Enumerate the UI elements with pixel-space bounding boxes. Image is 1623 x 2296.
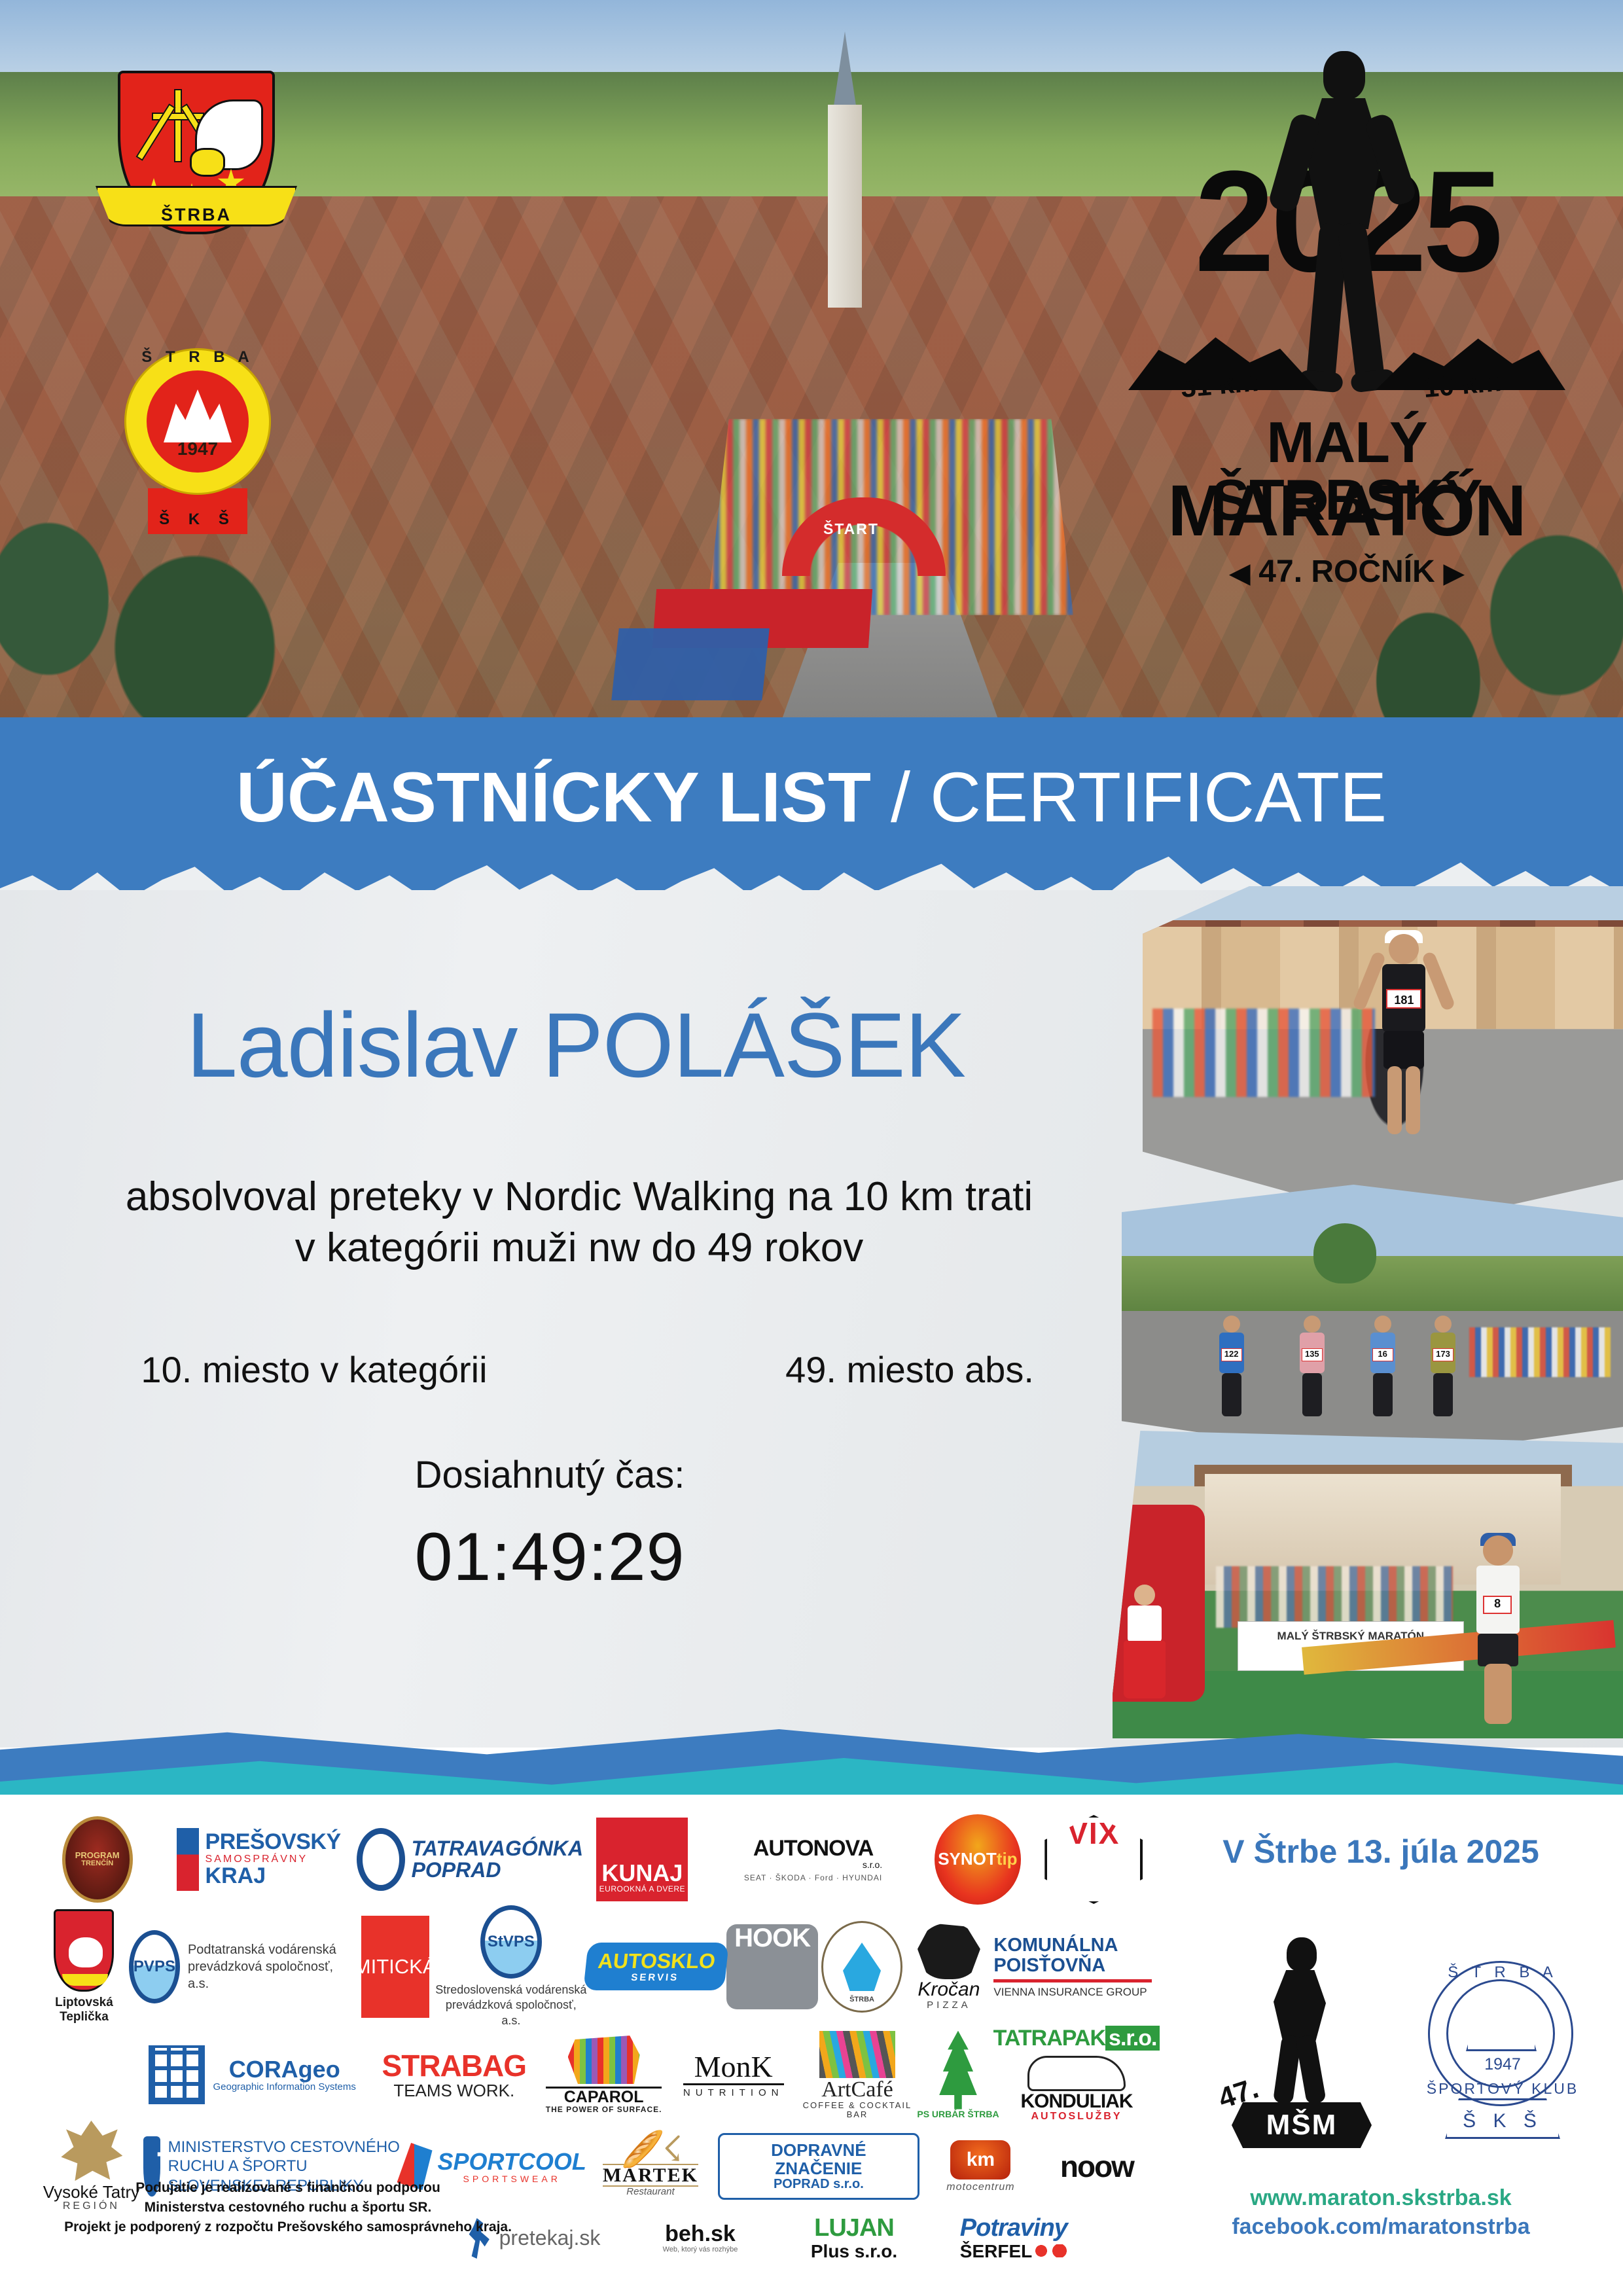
tatrapak-sub: s.r.o. <box>1105 2026 1160 2051</box>
sponsor-liptovska-teplicka: Liptovská Teplička <box>39 1909 129 2024</box>
arrow-right-icon: ▶ <box>1444 559 1464 588</box>
psk-line3: KRAJ <box>205 1865 341 1888</box>
distance-31km: 31 km <box>1179 366 1260 404</box>
time-value: 01:49:29 <box>0 1518 1099 1596</box>
konduliak-name: KONDULIAK <box>1021 2091 1133 2112</box>
sponsor-artcafe: ArtCafé COFFEE & COCKTAIL BAR <box>800 2031 915 2119</box>
elephant-icon <box>568 2036 640 2084</box>
certificate-title-band: ÚČASTNÍCKY LIST / CERTIFICATE <box>0 717 1623 902</box>
lujan-name: LUJAN <box>811 2215 897 2242</box>
stvps-name: StVPS <box>488 1933 535 1950</box>
strabag-name: STRABAG <box>382 2050 526 2081</box>
strba-municipal-crest: ŠTRBA <box>118 71 275 234</box>
event-edition-label: 47. ROČNÍK <box>1258 554 1435 589</box>
issue-date: V Štrbe 13. júla 2025 <box>1171 1833 1590 1871</box>
behsk-sub: Web, ktorý vás rozhýbe <box>663 2246 738 2254</box>
kp-sub: VIENNA INSURANCE GROUP <box>993 1986 1152 1998</box>
sponsor-monk-nutrition: MonK NUTRITION <box>667 2051 799 2098</box>
pvps-name: PVPS <box>134 1958 175 1975</box>
sponsor-program-trencin: PROGRAM TRENČÍN <box>39 1816 155 1903</box>
monk-name: MonK <box>683 2051 784 2085</box>
vix-name: VIX <box>1044 1815 1143 1904</box>
sponsor-behsk: beh.sk Web, ktorý vás rozhýbe <box>622 2223 779 2253</box>
msm-runner-icon <box>1258 1937 1343 2101</box>
photo-runners-on-course: 122 135 16 173 <box>1122 1185 1623 1460</box>
start-label: ŠTART <box>823 520 879 538</box>
funding-disclaimer: Podujatie je realizované s finančnou pod… <box>39 2178 537 2236</box>
title-sk: ÚČASTNÍCKY LIST <box>236 757 871 836</box>
photo3-bib-number: 8 <box>1483 1596 1512 1614</box>
stvps-water-icon: StVPS <box>480 1905 542 1979</box>
photo-finish-female-runner: 181 <box>1143 886 1623 1227</box>
tatrapak-name: TATRAPAK <box>993 2026 1105 2051</box>
photo2-bib-3: 16 <box>1372 1348 1393 1361</box>
sks-top-label: Š T R B A <box>110 348 285 367</box>
potraviny-sub: ŠERFEL <box>960 2241 1032 2261</box>
behsk-name: beh.sk <box>663 2223 738 2246</box>
sponsor-pvps: PVPS Podtatranská vodárenská prevádzková… <box>129 1930 355 2003</box>
miticka-name: MITICKÁ <box>361 1916 429 2018</box>
caparol-sub: THE POWER OF SURFACE. <box>546 2106 662 2114</box>
church-tower <box>821 31 868 306</box>
km-name: km <box>950 2140 1010 2179</box>
corageo-name: CORAgeo <box>213 2057 355 2082</box>
pd-strba-icon: ŠTRBA <box>821 1921 902 2013</box>
kunaj-name: KUNAJ <box>596 1861 688 1886</box>
stamp-abbr: Š K Š <box>1415 2110 1590 2132</box>
description-line2: v kategórii muži nw do 49 rokov <box>0 1223 1158 1274</box>
sks-club-logo: Š T R B A 1947 Š K Š <box>110 334 285 530</box>
stvps-sub: Stredoslovenská vodárenská prevádzková s… <box>435 1982 588 2028</box>
car-icon <box>1027 2056 1126 2091</box>
tatravagonka-line2: POPRAD <box>412 1859 583 1881</box>
sponsor-vix: VIX <box>1036 1815 1152 1904</box>
facebook-url[interactable]: facebook.com/maratonstrba <box>1165 2212 1597 2241</box>
artcafe-bars-icon <box>819 2031 895 2078</box>
sks-year-label: 1947 <box>110 439 285 459</box>
hook-name: HOOK <box>726 1924 818 2009</box>
sponsor-stvps: StVPS Stredoslovenská vodárenská prevádz… <box>435 1905 588 2028</box>
lujan-sub: Plus s.r.o. <box>811 2242 897 2261</box>
place-in-category: 10. miesto v kategórii <box>105 1348 524 1391</box>
liptovska-crest-icon <box>54 1909 114 1992</box>
turkey-icon <box>918 1923 980 1979</box>
sponsor-lujan: LUJAN Plus s.r.o. <box>779 2215 929 2261</box>
sponsor-krocan-pizza: Kročan PIZZA <box>904 1923 993 2010</box>
autosklo-sub: SERVIS <box>596 1973 715 1983</box>
place-absolute: 49. miesto abs. <box>707 1348 1113 1391</box>
tree-icon <box>935 2031 982 2109</box>
krocan-name: Kročan <box>918 1979 980 2000</box>
corageo-sub: Geographic Information Systems <box>213 2082 355 2092</box>
sponsor-synot-tip: SYNOTtip <box>919 1814 1035 1905</box>
sponsor-logos: PROGRAM TRENČÍN PREŠOVSKÝ SAMOSPRÁVNY KR… <box>39 1806 1152 2225</box>
sponsor-row-3: CORAgeo Geographic Information Systems S… <box>39 2022 1152 2127</box>
sponsor-km-motocentrum: km motocentrum <box>919 2140 1042 2193</box>
arrow-left-icon: ◀ <box>1230 559 1250 588</box>
artcafe-name: ArtCafé <box>800 2078 915 2102</box>
club-stamp: Š T R B A 1947 ŠPORTOVÝ KLUB Š K Š <box>1415 1927 1590 2143</box>
distance-10km: 10 km <box>1422 366 1503 404</box>
time-label: Dosiahnutý čas: <box>0 1453 1099 1497</box>
kunaj-sub: EUROOKNÁ A DVERE <box>596 1885 688 1893</box>
martek-name: MARTEK <box>603 2164 698 2187</box>
sks-bottom-label: Š K Š <box>110 511 285 529</box>
autonova-brands: SEAT · ŠKODA · Ford · HYUNDAI <box>744 1874 882 1882</box>
autonova-sub: s.r.o. <box>744 1860 882 1870</box>
sponsor-corageo: CORAgeo Geographic Information Systems <box>137 2045 368 2104</box>
sponsor-kunaj: KUNAJ EUROOKNÁ A DVERE <box>578 1818 707 1901</box>
sponsor-tatrapak-konduliak: TATRAPAKs.r.o. KONDULIAK AUTOSLUŽBY <box>1001 2027 1152 2123</box>
potraviny-name: Potraviny <box>960 2215 1069 2242</box>
disclaimer-line1: Podujatie je realizované s finančnou pod… <box>39 2178 537 2198</box>
pvps-water-icon: PVPS <box>129 1930 180 2003</box>
caparol-name: CAPAROL <box>546 2087 662 2106</box>
sponsor-miticka: MITICKÁ <box>355 1916 435 2018</box>
msm-abbr: MŠM <box>1232 2102 1372 2148</box>
certificate-description: absolvoval preteky v Nordic Walking na 1… <box>0 1172 1158 1274</box>
photo1-bib-number: 181 <box>1387 994 1420 1007</box>
sponsor-row-1: PROGRAM TRENČÍN PREŠOVSKÝ SAMOSPRÁVNY KR… <box>39 1810 1152 1909</box>
sponsor-tatravagonka: TATRAVAGÓNKA POPRAD <box>362 1828 578 1891</box>
pd-strba-sub: ŠTRBA <box>823 1996 901 2004</box>
synot-name: SYNOT <box>938 1850 997 1868</box>
participant-name: Ladislav POLÁŠEK <box>0 992 1152 1098</box>
sponsor-noow: noow <box>1042 2151 1152 2182</box>
autosklo-part1: AUTOSKLO <box>597 1949 717 1973</box>
photo2-bib-2: 135 <box>1302 1348 1323 1361</box>
stamp-year: 1947 <box>1415 2055 1590 2074</box>
photo-finish-line-winner: MALÝ ŠTRBSKÝ MARATÓN 8 <box>1113 1431 1623 1738</box>
km-sub: motocentrum <box>946 2182 1014 2193</box>
corageo-grid-icon <box>149 2045 205 2104</box>
kp-name: KOMUNÁLNA POISŤOVŇA <box>993 1935 1152 1975</box>
sponsor-martek: 🥖☇ MARTEK Restaurant <box>583 2136 718 2197</box>
msm-badge: 47. MŠM <box>1215 1937 1385 2153</box>
sponsor-autosklo: AUTOSKLO SERVIS <box>588 1943 725 1990</box>
sportcool-name: SPORTCOOL <box>438 2149 586 2174</box>
event-logo: 2025 31 km 10 km MALÝ ŠTRBSKÝ MARATÓN ◀ … <box>1124 31 1569 601</box>
sponsor-presovsky-kraj: PREŠOVSKÝ SAMOSPRÁVNY KRAJ <box>155 1828 361 1891</box>
certificate-title: ÚČASTNÍCKY LIST / CERTIFICATE <box>0 762 1623 833</box>
sponsor-strabag: STRABAG TEAMS WORK. <box>368 2050 541 2100</box>
photo2-bib-1: 122 <box>1221 1348 1242 1361</box>
stamp-circle-label: ŠPORTOVÝ KLUB <box>1415 2080 1590 2098</box>
event-edition: ◀ 47. ROČNÍK ▶ <box>1124 554 1569 590</box>
runner-silhouette-icon <box>1279 51 1410 418</box>
noow-name: noow <box>1060 2151 1133 2182</box>
cutlery-icon: 🥖☇ <box>603 2136 698 2164</box>
krocan-sub: PIZZA <box>918 2000 980 2011</box>
sponsor-autonova: AUTONOVA s.r.o. SEAT · ŠKODA · Ford · HY… <box>707 1837 919 1882</box>
dz-name: DOPRAVNÉ ZNAČENIE <box>730 2142 907 2178</box>
monk-sub: NUTRITION <box>683 2088 784 2098</box>
stamp-top-label: Š T R B A <box>1415 1964 1590 1982</box>
liptovska-line1: Liptovská <box>55 1996 113 2010</box>
tatravagonka-oval-icon <box>357 1828 405 1891</box>
title-separator: / <box>891 757 910 836</box>
chamois-icon <box>60 2121 122 2183</box>
crest-ribbon-label: ŠTRBA <box>98 205 295 225</box>
crest-ribbon: ŠTRBA <box>96 186 297 226</box>
website-url[interactable]: www.maraton.skstrba.sk <box>1165 2183 1597 2212</box>
strabag-sub: TEAMS WORK. <box>382 2082 526 2100</box>
psk-line1: PREŠOVSKÝ <box>205 1831 341 1854</box>
sponsor-pd-strba: ŠTRBA <box>820 1921 904 2013</box>
sponsor-potraviny-serfel: Potraviny ŠERFEL <box>929 2215 1099 2261</box>
sponsor-caparol: CAPAROL THE POWER OF SURFACE. <box>541 2036 668 2114</box>
sponsor-ps-urbar-strba: PS URBÁR ŠTRBA <box>915 2031 1001 2119</box>
sponsor-komunalna-poistovna: KOMUNÁLNA POISŤOVŇA VIENNA INSURANCE GRO… <box>993 1935 1152 1998</box>
blue-tent <box>611 628 770 700</box>
title-en: CERTIFICATE <box>930 757 1387 836</box>
sponsor-program-name: PROGRAM <box>65 1851 130 1860</box>
tatravagonka-line1: TATRAVAGÓNKA <box>412 1838 583 1859</box>
event-name-line2: MARATÓN <box>1124 475 1569 547</box>
photo-collage: 181 122 135 16 173 MALÝ ŠTRBSKÝ MARATÓN … <box>1113 877 1623 1748</box>
sponsor-row-2: Liptovská Teplička PVPS Podtatranská vod… <box>39 1911 1152 2022</box>
martek-sub: Restaurant <box>603 2187 698 2197</box>
synot-sub: tip <box>997 1850 1018 1868</box>
pvps-sub: Podtatranská vodárenská prevádzková spol… <box>188 1941 355 1992</box>
autonova-name: AUTONOVA <box>744 1837 882 1861</box>
sponsor-hook: HOOK <box>725 1924 820 2009</box>
sponsor-program-sub: TRENČÍN <box>65 1860 130 1868</box>
disclaimer-line3: Projekt je podporený z rozpočtu Prešovsk… <box>39 2217 537 2237</box>
dz-sub: POPRAD s.r.o. <box>730 2178 907 2191</box>
disclaimer-line2: Ministerstva cestovného ruchu a športu S… <box>39 2198 537 2217</box>
contact-links: www.maraton.skstrba.sk facebook.com/mara… <box>1165 2183 1597 2241</box>
potraviny-dots-icon <box>1032 2244 1069 2257</box>
psk-flag-icon <box>177 1828 199 1891</box>
sponsor-dopravne-znacenie: DOPRAVNÉ ZNAČENIE POPRAD s.r.o. <box>718 2133 919 2200</box>
photo2-bib-4: 173 <box>1433 1348 1454 1361</box>
description-line1: absolvoval preteky v Nordic Walking na 1… <box>0 1172 1158 1223</box>
